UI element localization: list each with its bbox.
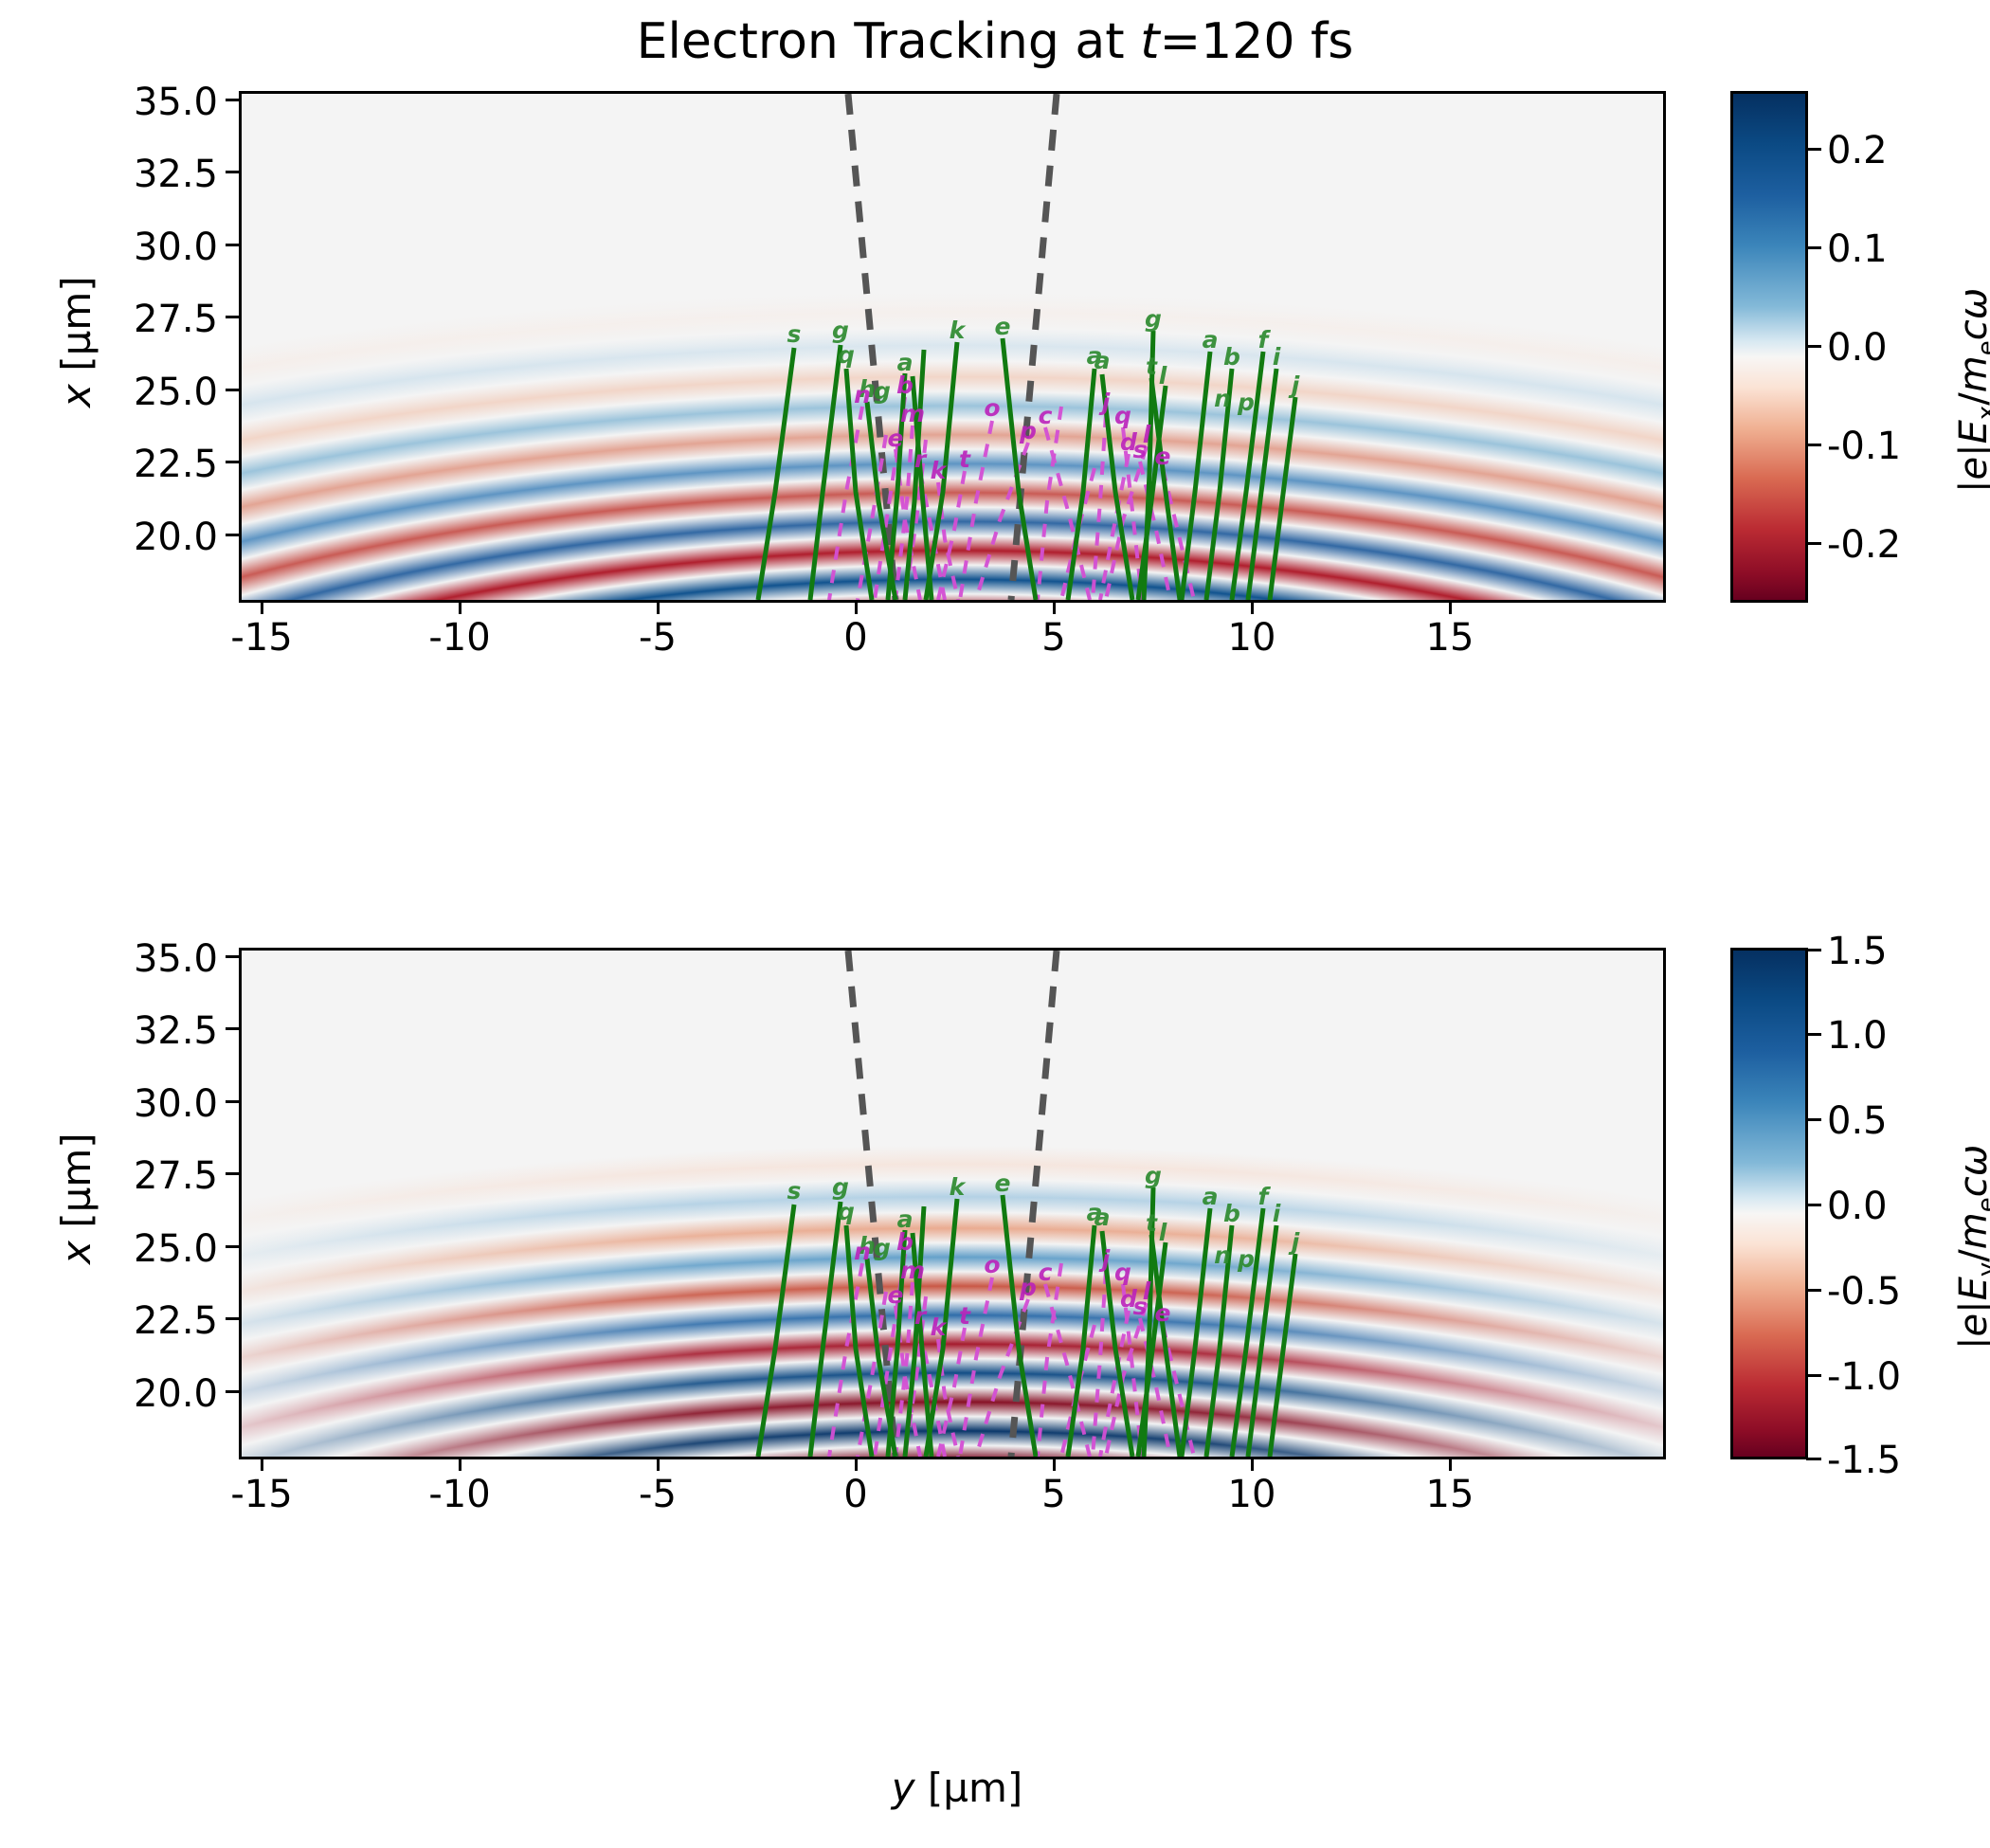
traj-label: a	[1094, 347, 1111, 374]
traj-label: b	[1223, 343, 1240, 371]
ytick-label: 20.0	[57, 516, 218, 559]
cbar-tick-label: 1.0	[1827, 1014, 1888, 1058]
ytick-mark	[226, 1317, 239, 1320]
xtick-label: 5	[978, 616, 1130, 660]
cbar-tick-mark	[1806, 148, 1821, 151]
ytick-mark	[226, 1172, 239, 1175]
ytick-label: 35.0	[57, 937, 218, 981]
traj-label: o	[984, 394, 1000, 422]
traj-label: q	[838, 1198, 855, 1225]
traj-label: r	[914, 1302, 928, 1330]
traj-label: c	[1039, 402, 1053, 429]
traj-label: g	[874, 1234, 891, 1261]
panel-bottom-xlabel: y [µm]	[805, 1765, 1109, 1811]
traj-label: p	[1019, 1274, 1037, 1301]
ytick-mark	[226, 1245, 239, 1248]
traj-label: n	[1214, 385, 1231, 412]
xtick-mark	[657, 1458, 660, 1471]
ytick-mark	[226, 1390, 239, 1393]
traj-label: q	[1114, 402, 1131, 429]
cbar-tick-mark	[1806, 444, 1821, 446]
panel-top-colorbar[interactable]	[1730, 91, 1808, 603]
traj-label: b	[1223, 1200, 1240, 1227]
traj-label: i	[1273, 343, 1281, 371]
traj-label: t	[1146, 1209, 1158, 1237]
traj-label: l	[1143, 1277, 1151, 1305]
traj-label: k	[931, 1314, 948, 1341]
traj-label: c	[1039, 1259, 1053, 1286]
traj-label: m	[900, 400, 925, 427]
traj-label: g	[832, 1173, 849, 1201]
panel-bottom-colorbar[interactable]	[1730, 948, 1808, 1459]
xtick-mark	[1251, 601, 1254, 614]
traj-label: e	[1155, 1299, 1171, 1327]
ytick-label: 35.0	[57, 81, 218, 124]
cbar-tick-mark	[1806, 1289, 1821, 1292]
ytick-label: 30.0	[57, 1082, 218, 1126]
xtick-label: 0	[780, 616, 932, 660]
traj-label: t	[959, 445, 971, 473]
traj-label: g	[1145, 305, 1162, 333]
cbar-tick-label: -1.0	[1827, 1355, 1901, 1399]
xtick-mark	[1053, 1458, 1056, 1471]
cbar-tick-mark	[1806, 1033, 1821, 1036]
xtick-label: -5	[582, 616, 733, 660]
traj-label: i	[1273, 1200, 1281, 1227]
xtick-mark	[1449, 601, 1452, 614]
panel-bottom-colorbar-label: |e|Ey/mecω	[1952, 1145, 1990, 1350]
traj-label: q	[838, 341, 855, 369]
ytick-label: 30.0	[57, 226, 218, 269]
cbar-tick-mark	[1806, 246, 1821, 249]
traj-label: m	[900, 1257, 925, 1284]
traj-label: e	[995, 1169, 1011, 1197]
xtick-mark	[1449, 1458, 1452, 1471]
panel-top-colorbar-label: |e|Ex/mecω	[1952, 288, 1990, 493]
panel-top-ylabel: x [µm]	[53, 276, 99, 408]
cbar-tick-label: -0.2	[1827, 523, 1901, 567]
xtick-label: -5	[582, 1473, 733, 1516]
xtick-mark	[459, 1458, 461, 1471]
traj-label: n	[854, 381, 871, 408]
traj-label: n	[1214, 1241, 1231, 1269]
traj-label: b	[896, 371, 914, 399]
ytick-mark	[226, 171, 239, 173]
page-title: Electron Tracking at t=120 fs	[0, 13, 1990, 70]
traj-label: s	[787, 1177, 802, 1205]
xtick-mark	[657, 601, 660, 614]
ytick-mark	[226, 534, 239, 536]
traj-label: e	[995, 313, 1011, 340]
xtick-label: 0	[780, 1473, 932, 1516]
traj-label: p	[1237, 1245, 1255, 1273]
cbar-tick-mark	[1806, 1374, 1821, 1377]
traj-label: e	[888, 425, 904, 452]
ytick-mark	[226, 316, 239, 318]
figure-root: Electron Tracking at t=120 fs	[0, 0, 1990, 1848]
traj-label: b	[896, 1228, 914, 1256]
cbar-tick-mark	[1806, 949, 1821, 951]
traj-label: o	[984, 1251, 1000, 1278]
cbar-tick-label: 0.2	[1827, 129, 1888, 172]
cbar-tick-label: 0.5	[1827, 1099, 1888, 1143]
panel-top-axes[interactable]: s g q a k e g h g a a t l f i b j	[239, 91, 1666, 603]
panel-bottom-field: s g q a k e g h g a a t l f i b j	[242, 951, 1663, 1457]
traj-label: k	[931, 457, 948, 484]
xtick-label: 10	[1176, 1473, 1328, 1516]
traj-label: l	[1159, 362, 1167, 390]
traj-label: g	[832, 317, 849, 344]
traj-label: e	[888, 1281, 904, 1309]
cbar-tick-label: 1.5	[1827, 930, 1888, 973]
traj-label: a	[1203, 1183, 1219, 1210]
traj-label: a	[1203, 326, 1219, 353]
panel-bottom-axes[interactable]: s g q a k e g h g a a t l f i b j	[239, 948, 1666, 1459]
ytick-mark	[226, 244, 239, 246]
xtick-label: 5	[978, 1473, 1130, 1516]
xtick-label: 15	[1374, 1473, 1526, 1516]
cbar-tick-label: -0.1	[1827, 425, 1901, 468]
ytick-label: 22.5	[57, 443, 218, 486]
xtick-label: 15	[1374, 616, 1526, 660]
xtick-label: -15	[186, 1473, 337, 1516]
cbar-tick-label: -0.5	[1827, 1270, 1901, 1314]
cbar-tick-mark	[1806, 1204, 1821, 1206]
ytick-mark	[226, 99, 239, 101]
traj-label: n	[854, 1238, 871, 1265]
cbar-tick-mark	[1806, 542, 1821, 545]
cbar-tick-mark	[1806, 345, 1821, 348]
title-prefix: Electron Tracking at	[637, 13, 1141, 70]
ytick-label: 20.0	[57, 1372, 218, 1416]
ytick-mark	[226, 1027, 239, 1030]
ytick-mark	[226, 389, 239, 391]
xtick-mark	[1053, 601, 1056, 614]
traj-label: l	[1143, 421, 1151, 448]
traj-label: q	[1114, 1259, 1131, 1286]
cbar-tick-label: 0.1	[1827, 227, 1888, 271]
traj-label: t	[959, 1302, 971, 1330]
ytick-label: 32.5	[57, 153, 218, 196]
ytick-mark	[226, 461, 239, 463]
xtick-label: -10	[384, 616, 535, 660]
traj-label: e	[1155, 443, 1171, 470]
traj-label: a	[1094, 1204, 1111, 1231]
xtick-mark	[855, 1458, 858, 1471]
cbar-tick-label: -1.5	[1827, 1439, 1901, 1482]
xtick-mark	[261, 1458, 263, 1471]
ytick-label: 32.5	[57, 1009, 218, 1053]
cbar-tick-label: 0.0	[1827, 326, 1888, 370]
xtick-mark	[855, 601, 858, 614]
traj-label: p	[1019, 417, 1037, 444]
panel-top-field: s g q a k e g h g a a t l f i b j	[242, 94, 1663, 600]
xtick-mark	[459, 601, 461, 614]
traj-label: g	[874, 377, 891, 405]
ytick-mark	[226, 1100, 239, 1103]
cbar-tick-mark	[1806, 1118, 1821, 1121]
xtick-label: 10	[1176, 616, 1328, 660]
traj-label: l	[1159, 1219, 1167, 1246]
panel-bottom-ylabel: x [µm]	[53, 1132, 99, 1264]
traj-label: r	[914, 445, 928, 473]
traj-label: s	[787, 320, 802, 348]
traj-label: k	[950, 1173, 967, 1201]
traj-label: t	[1146, 353, 1158, 380]
traj-label: p	[1237, 389, 1255, 416]
title-equation: =120	[1160, 13, 1295, 70]
xtick-label: -15	[186, 616, 337, 660]
cbar-tick-mark	[1806, 1458, 1821, 1460]
ytick-mark	[226, 955, 239, 958]
xtick-mark	[1251, 1458, 1254, 1471]
traj-label: k	[950, 317, 967, 344]
traj-label: g	[1145, 1162, 1162, 1189]
title-unit: fs	[1294, 13, 1353, 70]
cbar-tick-label: 0.0	[1827, 1185, 1888, 1228]
xtick-label: -10	[384, 1473, 535, 1516]
title-variable: t	[1140, 13, 1159, 70]
ytick-label: 22.5	[57, 1299, 218, 1343]
xtick-mark	[261, 601, 263, 614]
